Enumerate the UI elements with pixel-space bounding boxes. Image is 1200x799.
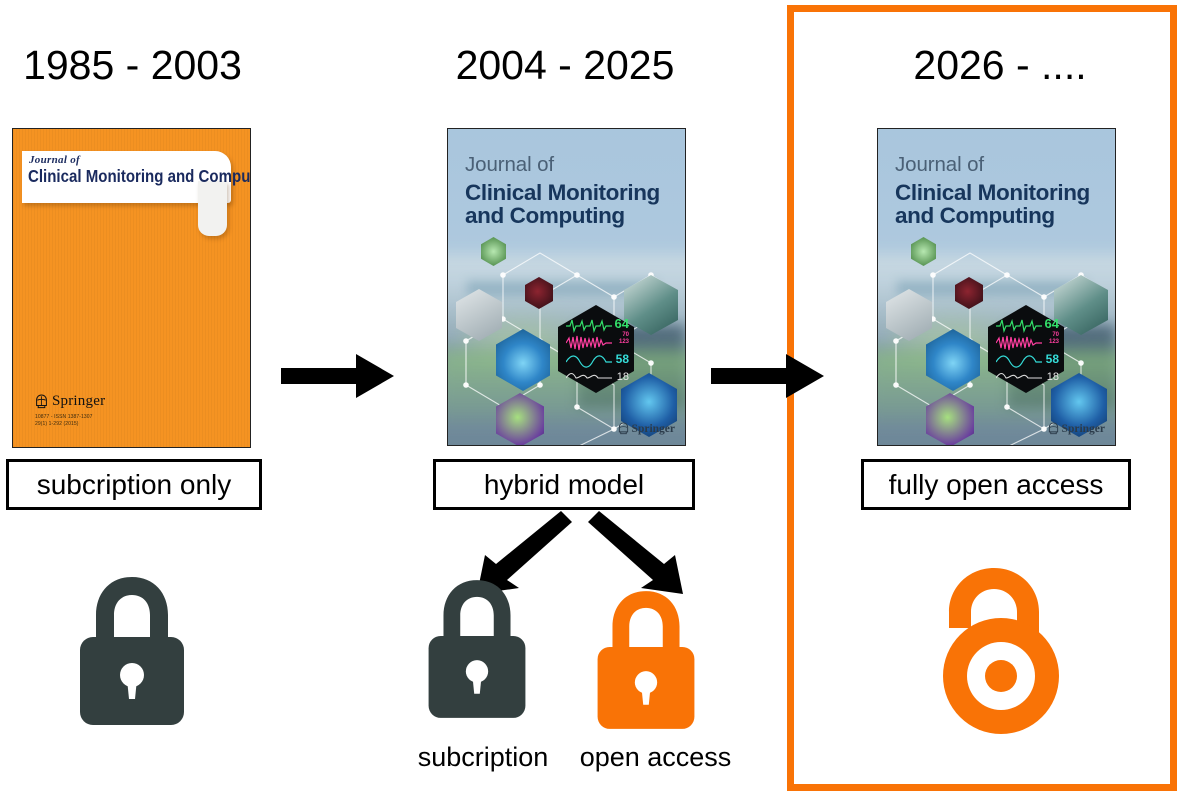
closed-lock-icon-subscription [423, 578, 531, 720]
cover-journal-title-line2: and Computing [465, 204, 660, 227]
vital-waveforms [566, 316, 614, 382]
branch-arrow-right [588, 511, 683, 594]
cover-journal-of-label: Journal of [895, 155, 1090, 176]
springer-wordmark: Springer [1062, 423, 1105, 435]
cover-journal-title-line1: Clinical Monitoring [895, 181, 1090, 204]
model-label-hybrid-model: hybrid model [433, 459, 695, 510]
vital-waveforms [996, 316, 1044, 382]
lock-caption-subscription: subcription [398, 742, 568, 773]
springer-wordmark: Springer [52, 393, 105, 410]
bp-diastolic-value: 123 [1045, 339, 1059, 346]
lock-caption-open-access: open access [563, 742, 748, 773]
era-heading-1985-2003: 1985 - 2003 [0, 42, 265, 89]
bp-systolic-value: 70 [615, 332, 629, 339]
spo2-value: 58 [1045, 353, 1059, 365]
vital-sign-readouts: 64 70 123 58 18 [1045, 317, 1059, 383]
cover-title-block: Journal of Clinical Monitoring and Compu… [465, 155, 660, 227]
cover-journal-title-line1: Clinical Monitoring [465, 181, 660, 204]
arrow-era2-to-era3 [708, 348, 828, 404]
model-label-text: subcription only [37, 469, 232, 501]
model-label-fully-open-access: fully open access [861, 459, 1131, 510]
journal-cover-classic-orange: Journal of Clinical Monitoring and Compu… [12, 128, 251, 448]
model-label-text: hybrid model [484, 469, 644, 501]
journal-cover-modern-era3: Journal of Clinical Monitoring and Compu… [877, 128, 1116, 446]
springer-wordmark: Springer [632, 423, 675, 435]
springer-logo-modern: Springer [1048, 422, 1105, 435]
spo2-value: 58 [615, 353, 629, 365]
bp-systolic-value: 70 [1045, 332, 1059, 339]
cover-journal-title: Clinical Monitoring and Computing [28, 167, 251, 186]
springer-logo-modern: Springer [618, 422, 675, 435]
patient-monitor-hexagon: 64 70 123 58 18 [558, 305, 634, 393]
model-label-subscription-only: subcription only [6, 459, 262, 510]
springer-knight-icon [618, 422, 629, 435]
figure-canvas: 1985 - 2003 2004 - 2025 2026 - .... Jour… [0, 0, 1200, 799]
cover-journal-of-label: Journal of [29, 154, 80, 166]
closed-lock-icon-open-access [592, 589, 700, 731]
springer-knight-icon [1048, 422, 1059, 435]
arrow-era1-to-era2 [278, 348, 398, 404]
cover-journal-of-label: Journal of [465, 155, 660, 176]
era-heading-2004-2025: 2004 - 2025 [430, 42, 700, 89]
model-label-text: fully open access [889, 469, 1104, 501]
respiration-rate-value: 18 [615, 372, 629, 383]
patient-monitor-hexagon: 64 70 123 58 18 [988, 305, 1064, 393]
open-access-logo-icon [933, 566, 1069, 738]
cover-issn-block: 10877 - ISSN 1387-1307 29(1) 1-292 (2015… [35, 414, 93, 427]
springer-knight-icon [35, 394, 48, 409]
cover-title-block: Journal of Clinical Monitoring and Compu… [895, 155, 1090, 227]
vital-sign-readouts: 64 70 123 58 18 [615, 317, 629, 383]
closed-lock-icon-era1 [74, 575, 190, 727]
respiration-rate-value: 18 [1045, 372, 1059, 383]
journal-cover-modern-era2: Journal of Clinical Monitoring and Compu… [447, 128, 686, 446]
springer-logo-classic: Springer [35, 393, 105, 410]
heart-rate-value: 64 [1045, 317, 1059, 330]
heart-rate-value: 64 [615, 317, 629, 330]
cover-journal-title-line2: and Computing [895, 204, 1090, 227]
cover-banner-tab [198, 181, 227, 236]
era-heading-2026-onwards: 2026 - .... [860, 42, 1140, 89]
bp-diastolic-value: 123 [615, 339, 629, 346]
